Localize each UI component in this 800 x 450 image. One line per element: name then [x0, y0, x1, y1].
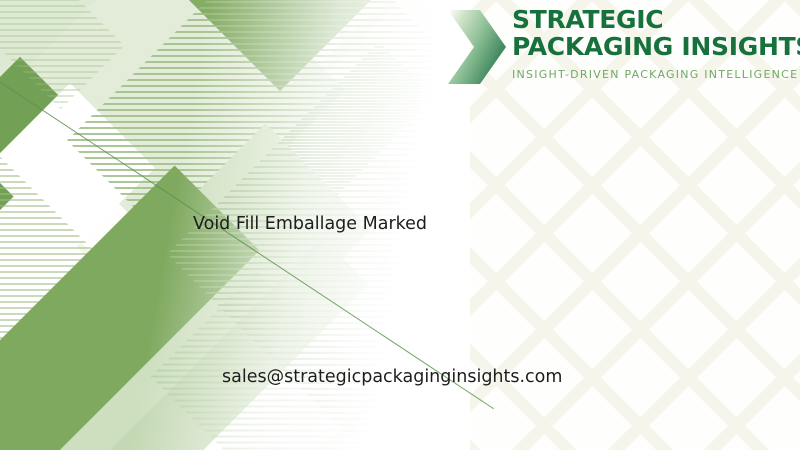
logo-line-2: PACKAGING INSIGHTS [512, 33, 766, 60]
logo-wordmark: STRATEGIC PACKAGING INSIGHTS INSIGHT-DRI… [512, 6, 766, 81]
logo-line-1: STRATEGIC [512, 6, 766, 33]
chevron-mark-icon [446, 8, 508, 86]
contact-email[interactable]: sales@strategicpackaginginsights.com [222, 367, 562, 387]
slide-canvas: STRATEGIC PACKAGING INSIGHTS INSIGHT-DRI… [0, 0, 800, 450]
slide-title: Void Fill Emballage Marked [193, 214, 427, 234]
brand-logo: STRATEGIC PACKAGING INSIGHTS INSIGHT-DRI… [446, 6, 766, 90]
logo-tagline: INSIGHT-DRIVEN PACKAGING INTELLIGENCE [512, 68, 766, 81]
